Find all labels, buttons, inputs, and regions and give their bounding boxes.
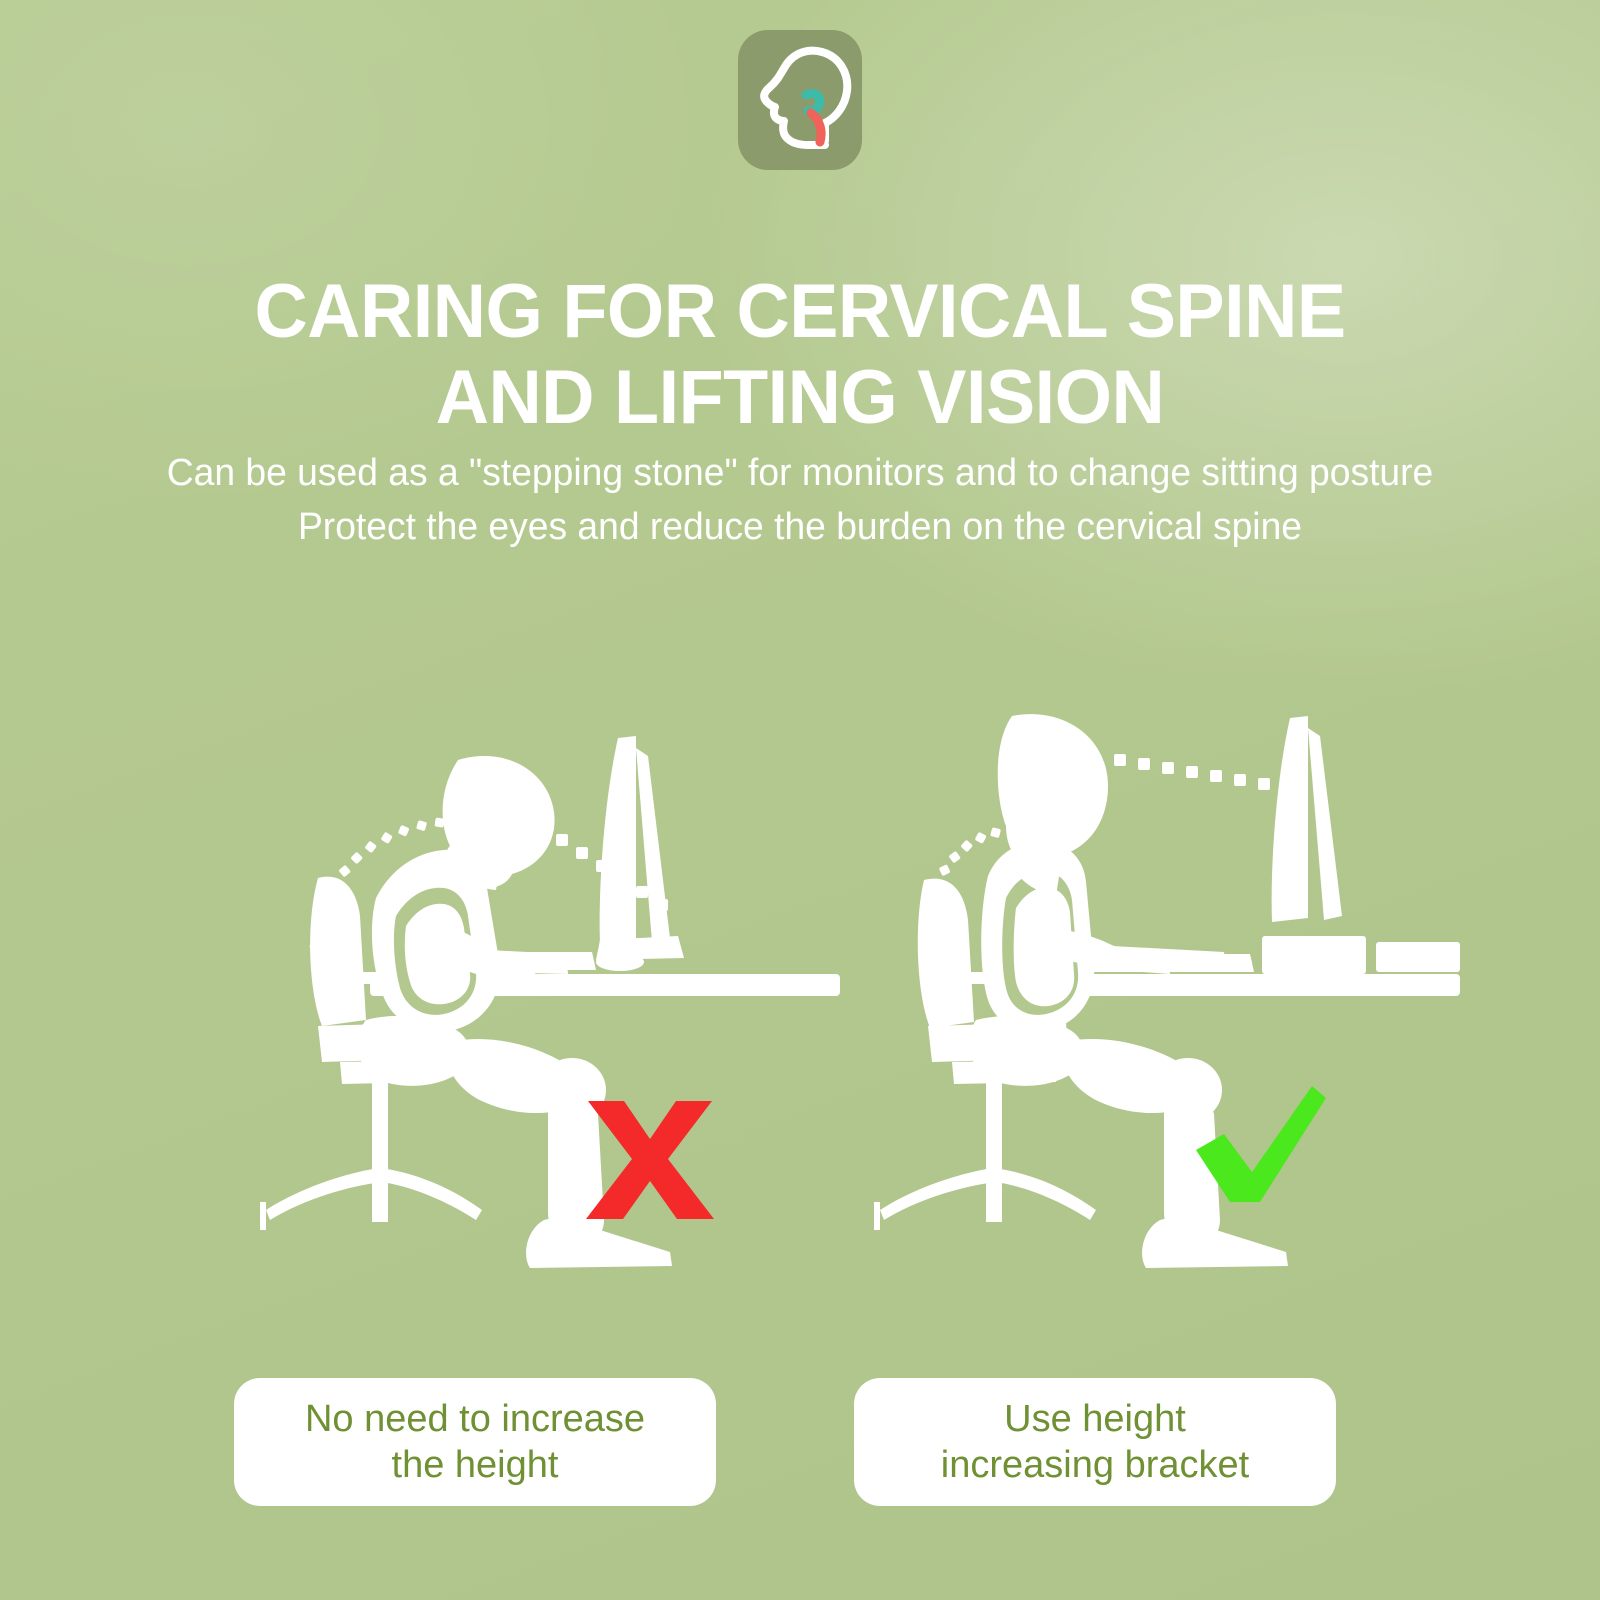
caption-right-line-1: Use height <box>941 1396 1249 1442</box>
poster-root: CARING FOR CERVICAL SPINE AND LIFTING VI… <box>0 0 1600 1600</box>
caption-right: Use height increasing bracket <box>854 1378 1336 1506</box>
illustration-left-bad-posture <box>200 690 840 1290</box>
caption-left-line-1: No need to increase <box>305 1396 645 1442</box>
caption-left: No need to increase the height <box>234 1378 716 1506</box>
page-title: CARING FOR CERVICAL SPINE AND LIFTING VI… <box>24 269 1576 441</box>
monitor-riser-block <box>1262 936 1366 974</box>
page-subtitle-line-2: Protect the eyes and reduce the burden o… <box>16 500 1584 554</box>
cross-icon <box>580 1095 720 1225</box>
check-icon <box>1190 1080 1330 1210</box>
page-subtitle-line-1: Can be used as a "stepping stone" for mo… <box>16 446 1584 500</box>
page-title-line-1: CARING FOR CERVICAL SPINE <box>24 269 1576 355</box>
caption-left-line-2: the height <box>305 1442 645 1488</box>
illustration-right-good-posture <box>820 690 1460 1290</box>
caption-right-line-2: increasing bracket <box>941 1442 1249 1488</box>
page-title-line-2: AND LIFTING VISION <box>24 355 1576 441</box>
sight-line-right <box>1114 754 1294 794</box>
head-cervical-spine-icon <box>748 41 852 159</box>
brand-badge <box>738 30 862 170</box>
page-subtitle: Can be used as a "stepping stone" for mo… <box>16 446 1584 554</box>
